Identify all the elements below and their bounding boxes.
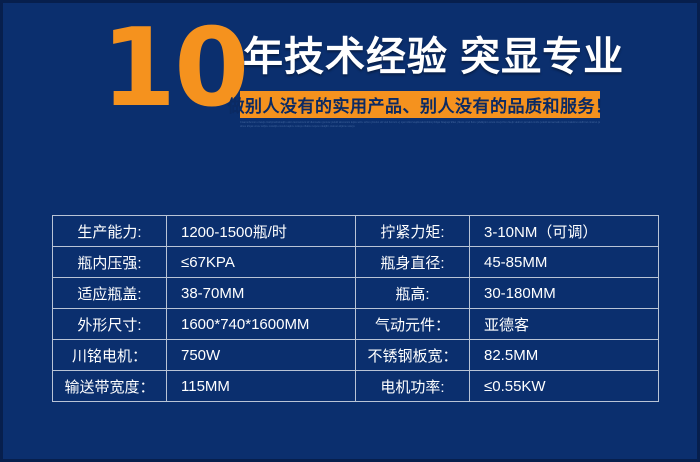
fineprint-block: Cnannnbcnnm crwsrjs lmsbjmshtdnsdjb uxkm… <box>240 121 600 137</box>
spec-value: ≤0.55KW <box>470 371 659 402</box>
spec-label: 电机功率: <box>356 371 470 402</box>
spec-value: 38-70MM <box>167 278 356 309</box>
table-row: 川铭电机： 750W 不锈钢板宽： 82.5MM <box>53 340 659 371</box>
spec-poster: 10 年技术经验 突显专业 做别人没有的实用产品、别人没有的品质和服务！ Cna… <box>0 0 700 462</box>
spec-value: 45-85MM <box>470 247 659 278</box>
spec-value: 30-180MM <box>470 278 659 309</box>
table-row: 适应瓶盖: 38-70MM 瓶高: 30-180MM <box>53 278 659 309</box>
specification-table: 生产能力: 1200-1500瓶/时 拧紧力矩: 3-10NM（可调） 瓶内压强… <box>52 215 659 402</box>
spec-label: 气动元件： <box>356 309 470 340</box>
fineprint-text: Cnannnbcnnm crwsrjs lmsbjmshtdnsdjb uxkm… <box>240 121 600 130</box>
spec-value: 115MM <box>167 371 356 402</box>
table-row: 生产能力: 1200-1500瓶/时 拧紧力矩: 3-10NM（可调） <box>53 216 659 247</box>
table-row: 瓶内压强: ≤67KPA 瓶身直径: 45-85MM <box>53 247 659 278</box>
spec-label: 不锈钢板宽： <box>356 340 470 371</box>
spec-label: 生产能力: <box>53 216 167 247</box>
spec-value: 1600*740*1600MM <box>167 309 356 340</box>
tagline-text: 做别人没有的实用产品、别人没有的品质和服务！ <box>228 92 613 117</box>
years-number: 10 <box>101 15 247 123</box>
spec-value: ≤67KPA <box>167 247 356 278</box>
tagline-banner: 做别人没有的实用产品、别人没有的品质和服务！ <box>240 91 600 118</box>
spec-table-body: 生产能力: 1200-1500瓶/时 拧紧力矩: 3-10NM（可调） 瓶内压强… <box>53 216 659 402</box>
spec-label: 拧紧力矩: <box>356 216 470 247</box>
spec-value: 3-10NM（可调） <box>470 216 659 247</box>
spec-label: 外形尺寸: <box>53 309 167 340</box>
table-row: 外形尺寸: 1600*740*1600MM 气动元件： 亚德客 <box>53 309 659 340</box>
spec-value: 750W <box>167 340 356 371</box>
spec-label: 输送带宽度： <box>53 371 167 402</box>
table-row: 输送带宽度： 115MM 电机功率: ≤0.55KW <box>53 371 659 402</box>
spec-value: 1200-1500瓶/时 <box>167 216 356 247</box>
spec-value: 亚德客 <box>470 309 659 340</box>
spec-label: 瓶高: <box>356 278 470 309</box>
poster-header: 10 年技术经验 突显专业 做别人没有的实用产品、别人没有的品质和服务！ Cna… <box>3 3 700 153</box>
spec-label: 适应瓶盖: <box>53 278 167 309</box>
spec-label: 川铭电机： <box>53 340 167 371</box>
headline-text: 年技术经验 突显专业 <box>243 33 624 81</box>
spec-value: 82.5MM <box>470 340 659 371</box>
spec-label: 瓶身直径: <box>356 247 470 278</box>
spec-label: 瓶内压强: <box>53 247 167 278</box>
